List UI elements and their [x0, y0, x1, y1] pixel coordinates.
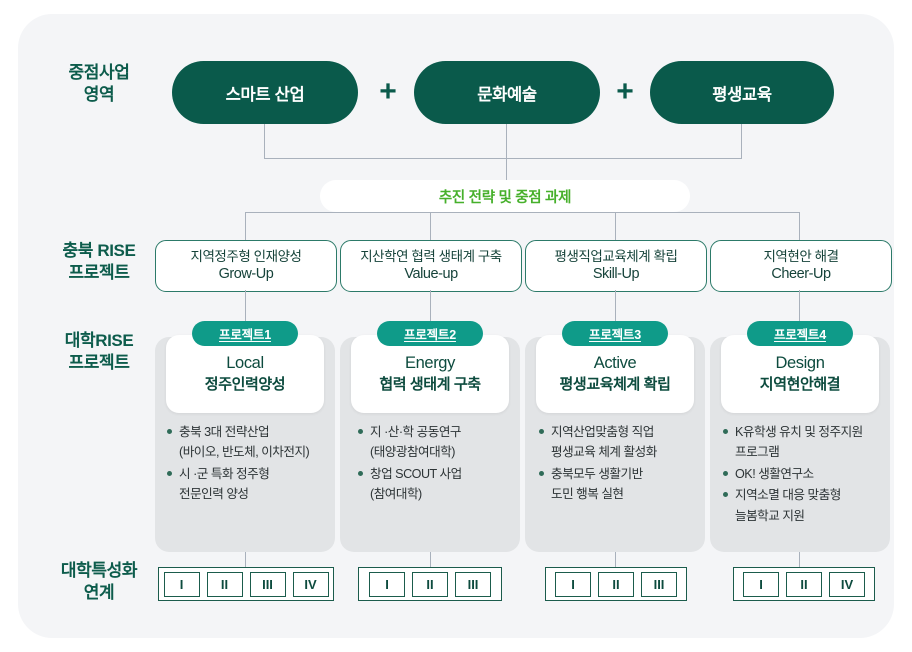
rise-box-ko: 평생직업교육체계 확립 — [554, 249, 677, 265]
project-card-4-title: Design 지역현안해결 — [721, 352, 879, 395]
connector-pill3-down — [741, 124, 742, 158]
connector-rise-drop-2 — [430, 212, 431, 240]
diagram-canvas: 중점사업 영역 충북 RISE 프로젝트 대학RISE 프로젝트 대학특성화 연… — [0, 0, 912, 652]
rise-box-ko: 지산학연 협력 생태계 구축 — [360, 249, 502, 265]
row-label-univ-rise-project: 대학RISE 프로젝트 — [34, 330, 164, 374]
connector-card4-to-strip4 — [799, 552, 800, 567]
rise-box-en: Cheer-Up — [771, 265, 830, 284]
project-title-en: Local — [166, 352, 324, 374]
specialization-strip-3: I II III — [545, 567, 687, 601]
rise-box-ko: 지역현안 해결 — [763, 249, 838, 265]
focus-area-pill-smart-industry[interactable]: 스마트 산업 — [172, 61, 358, 124]
project-card-2-title: Energy 협력 생태계 구축 — [351, 352, 509, 395]
project-title-ko: 지역현안해결 — [721, 375, 879, 395]
roman-box[interactable]: IV — [293, 572, 329, 597]
focus-area-label: 문화예술 — [477, 81, 537, 105]
roman-box[interactable]: II — [207, 572, 243, 597]
project-badge-3: 프로젝트3 — [562, 321, 668, 346]
list-item: OK! 생활연구소 — [722, 464, 892, 484]
list-item: 충북 3대 전략산업 (바이오, 반도체, 이차전지) — [166, 422, 326, 463]
connector-rise-bus — [245, 212, 799, 213]
rise-box-en: Skill-Up — [593, 265, 639, 284]
project-2-bullet-list: 지 ·산·학 공동연구 (태양광참여대학) 창업 SCOUT 사업 (참여대학) — [357, 422, 517, 506]
roman-box[interactable]: III — [250, 572, 286, 597]
list-item: 지역산업맞춤형 직업 평생교육 체계 활성화 — [538, 422, 698, 463]
connector-pill2-down — [506, 124, 507, 158]
project-3-bullet-list: 지역산업맞춤형 직업 평생교육 체계 활성화 충북모두 생활기반 도민 행복 실… — [538, 422, 698, 506]
rise-box-grow-up[interactable]: 지역정주형 인재양성 Grow-Up — [155, 240, 337, 292]
roman-box[interactable]: III — [641, 572, 677, 597]
connector-top-bus — [264, 158, 742, 159]
project-badge-1: 프로젝트1 — [192, 321, 298, 346]
specialization-strip-4: I II IV — [733, 567, 875, 601]
plus-icon-2: + — [611, 78, 639, 106]
rise-box-en: Grow-Up — [219, 265, 274, 284]
rise-box-cheer-up[interactable]: 지역현안 해결 Cheer-Up — [710, 240, 892, 292]
roman-box[interactable]: I — [369, 572, 405, 597]
rise-box-value-up[interactable]: 지산학연 협력 생태계 구축 Value-up — [340, 240, 522, 292]
project-title-en: Active — [536, 352, 694, 374]
connector-card3-to-strip3 — [615, 552, 616, 567]
roman-box[interactable]: II — [786, 572, 822, 597]
rise-box-skill-up[interactable]: 평생직업교육체계 확립 Skill-Up — [525, 240, 707, 292]
strategy-banner-label: 추진 전략 및 중점 과제 — [439, 186, 571, 207]
project-title-ko: 협력 생태계 구축 — [351, 375, 509, 395]
row-label-rise-project: 충북 RISE 프로젝트 — [34, 240, 164, 284]
list-item: 충북모두 생활기반 도민 행복 실현 — [538, 464, 698, 505]
rise-box-en: Value-up — [404, 265, 457, 284]
project-badge-label: 프로젝트1 — [219, 324, 271, 343]
project-badge-4: 프로젝트4 — [747, 321, 853, 346]
list-item: 지 ·산·학 공동연구 (태양광참여대학) — [357, 422, 517, 463]
roman-box[interactable]: I — [555, 572, 591, 597]
rise-box-ko: 지역정주형 인재양성 — [190, 249, 301, 265]
project-card-1-title: Local 정주인력양성 — [166, 352, 324, 395]
focus-area-pill-culture-arts[interactable]: 문화예술 — [414, 61, 600, 124]
plus-icon-1: + — [374, 78, 402, 106]
project-badge-2: 프로젝트2 — [377, 321, 483, 346]
roman-box[interactable]: III — [455, 572, 491, 597]
project-badge-label: 프로젝트2 — [404, 324, 456, 343]
roman-box[interactable]: II — [412, 572, 448, 597]
project-title-en: Design — [721, 352, 879, 374]
project-4-bullet-list: K유학생 유치 및 정주지원 프로그램 OK! 생활연구소 지역소멸 대응 맞춤… — [722, 422, 892, 527]
project-title-ko: 정주인력양성 — [166, 375, 324, 395]
connector-card2-to-strip2 — [430, 552, 431, 567]
specialization-strip-2: I II III — [358, 567, 502, 601]
roman-box[interactable]: I — [164, 572, 200, 597]
list-item: K유학생 유치 및 정주지원 프로그램 — [722, 422, 892, 463]
project-badge-label: 프로젝트4 — [774, 324, 826, 343]
connector-rise-drop-3 — [615, 212, 616, 240]
focus-area-label: 스마트 산업 — [226, 81, 305, 105]
list-item: 시 ·군 특화 정주형 전문인력 양성 — [166, 464, 326, 505]
roman-box[interactable]: II — [598, 572, 634, 597]
connector-pill1-down — [264, 124, 265, 158]
strategy-banner: 추진 전략 및 중점 과제 — [320, 180, 690, 212]
connector-rise-drop-4 — [799, 212, 800, 240]
connector-bus-to-banner — [506, 158, 507, 182]
project-1-bullet-list: 충북 3대 전략산업 (바이오, 반도체, 이차전지) 시 ·군 특화 정주형 … — [166, 422, 326, 506]
row-label-specialization: 대학특성화 연계 — [34, 560, 164, 604]
connector-card1-to-strip1 — [245, 552, 246, 567]
connector-rise-drop-1 — [245, 212, 246, 240]
project-badge-label: 프로젝트3 — [589, 324, 641, 343]
project-title-ko: 평생교육체계 확립 — [536, 375, 694, 395]
focus-area-label: 평생교육 — [712, 81, 772, 105]
roman-box[interactable]: IV — [829, 572, 865, 597]
roman-box[interactable]: I — [743, 572, 779, 597]
list-item: 지역소멸 대응 맞춤형 늘봄학교 지원 — [722, 485, 892, 526]
row-label-focus-areas: 중점사업 영역 — [34, 62, 164, 106]
focus-area-pill-lifelong-education[interactable]: 평생교육 — [650, 61, 834, 124]
project-card-3-title: Active 평생교육체계 확립 — [536, 352, 694, 395]
specialization-strip-1: I II III IV — [158, 567, 334, 601]
list-item: 창업 SCOUT 사업 (참여대학) — [357, 464, 517, 505]
project-title-en: Energy — [351, 352, 509, 374]
